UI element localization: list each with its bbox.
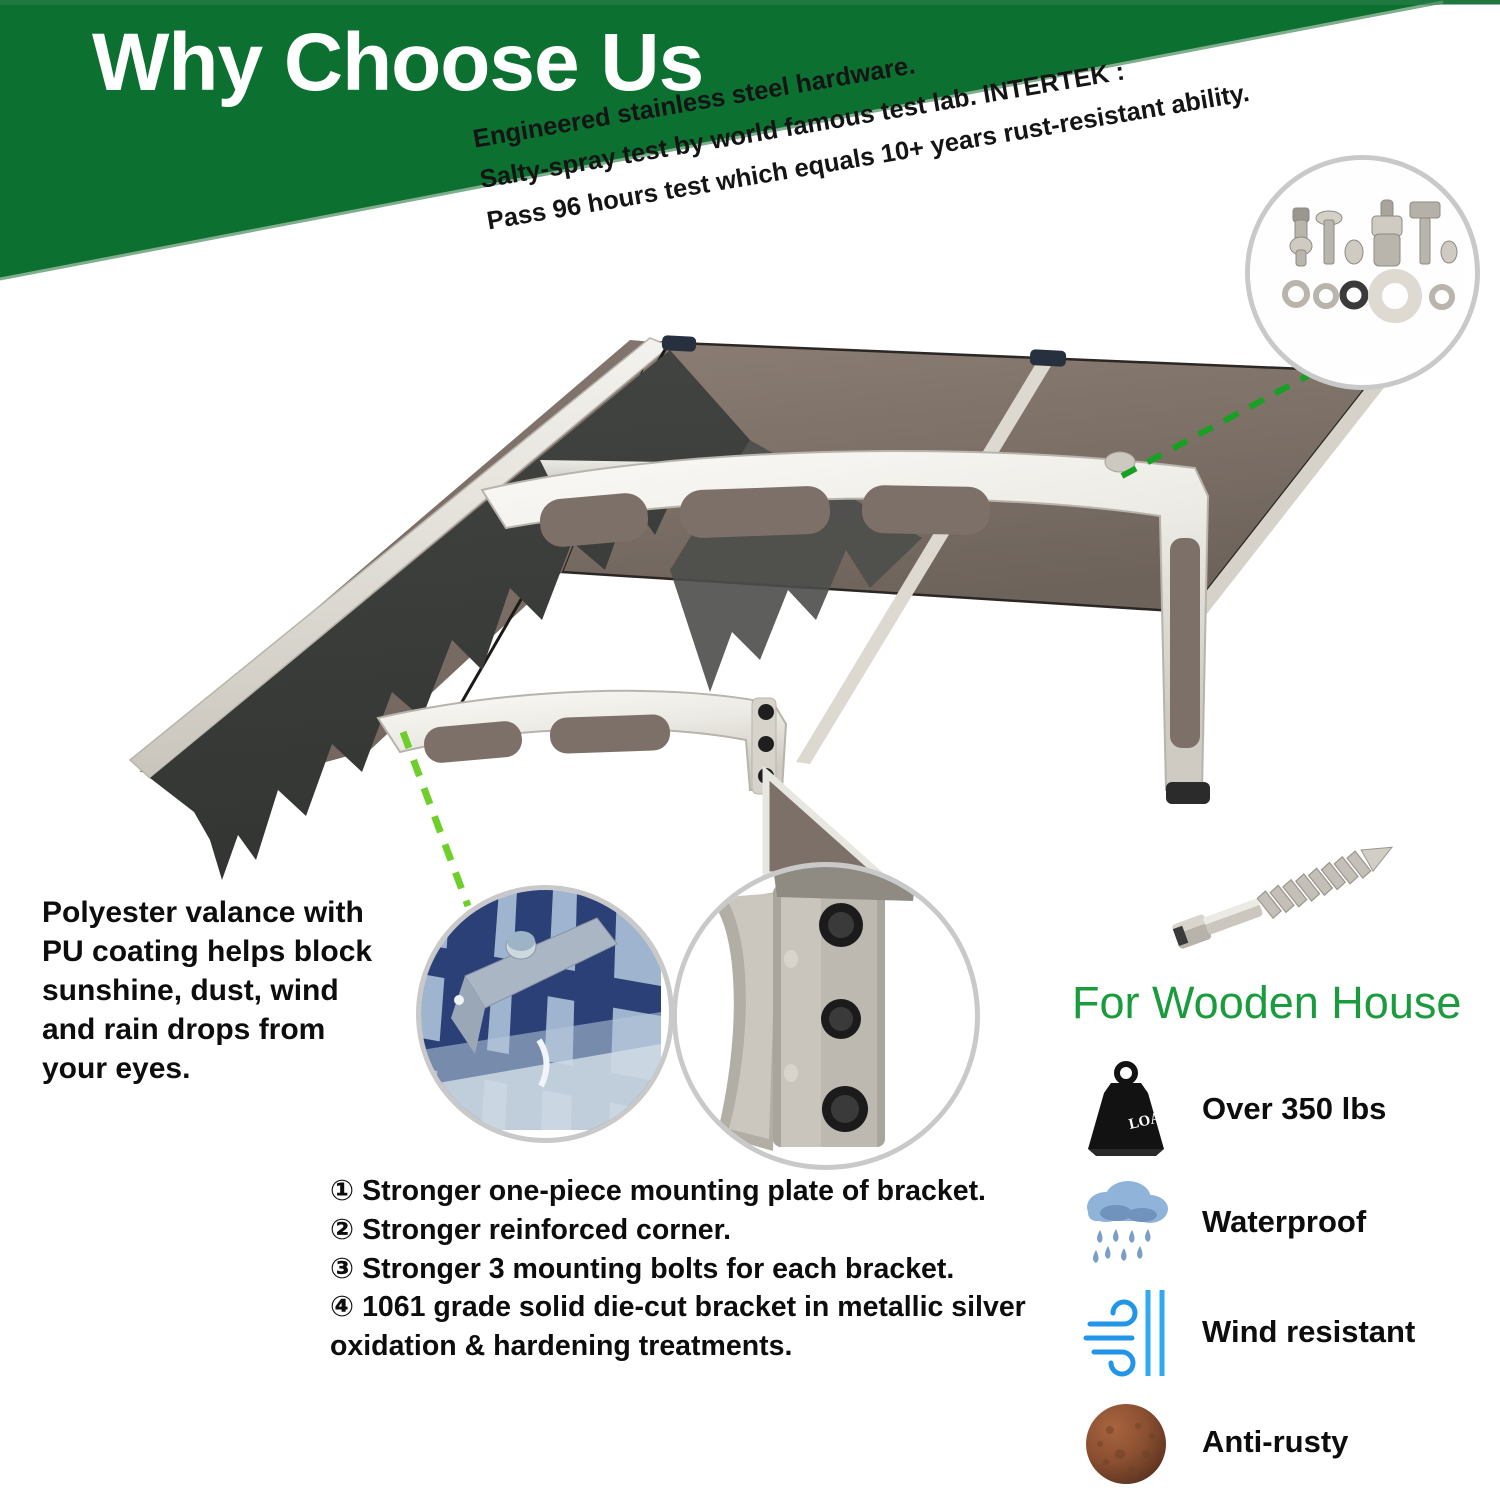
list-marker: ④	[330, 1291, 354, 1323]
wooden-house-title: For Wooden House	[1072, 977, 1461, 1029]
load-weight-icon: LOAD	[1072, 1055, 1180, 1163]
valance-mount-callout	[416, 885, 674, 1143]
feature-wind-resistant: Wind resistant	[1072, 1278, 1415, 1386]
feature-waterproof: Waterproof	[1072, 1168, 1366, 1276]
list-item: ③ Stronger 3 mounting bolts for each bra…	[330, 1250, 1070, 1289]
end-cap-left	[662, 335, 697, 352]
rust-sphere-icon	[1072, 1388, 1180, 1496]
lag-screw-photo	[1150, 840, 1425, 950]
list-marker: ③	[330, 1253, 354, 1285]
feature-label: Wind resistant	[1202, 1314, 1415, 1350]
feature-label: Anti-rusty	[1202, 1424, 1348, 1460]
valance-mount-photo	[421, 890, 661, 1130]
infographic-canvas: Why Choose Us Engineered stainless steel…	[0, 0, 1500, 1500]
bracket-bolts-callout	[672, 862, 980, 1170]
list-text: Stronger one-piece mounting plate of bra…	[362, 1175, 986, 1207]
feature-label: Waterproof	[1202, 1204, 1366, 1240]
list-text: Stronger 3 mounting bolts for each brack…	[362, 1253, 954, 1285]
page-title: Why Choose Us	[92, 20, 703, 106]
feature-over-350-lbs: LOAD Over 350 lbs	[1072, 1055, 1386, 1163]
end-cap-middle	[1030, 349, 1067, 367]
hardware-kit-callout	[1245, 155, 1480, 390]
list-item: ④ 1061 grade solid die-cut bracket in me…	[330, 1288, 1070, 1366]
wind-icon	[1072, 1278, 1180, 1386]
list-text: 1061 grade solid die-cut bracket in meta…	[330, 1291, 1026, 1362]
hardware-anchor-stud	[1105, 452, 1135, 472]
polyester-valance	[150, 350, 750, 880]
list-item: ② Stronger reinforced corner.	[330, 1211, 1070, 1250]
lag-screw-callout	[1150, 840, 1425, 950]
valance-description: Polyester valance with PU coating helps …	[42, 893, 382, 1088]
list-marker: ①	[330, 1175, 354, 1207]
list-item: ① Stronger one-piece mounting plate of b…	[330, 1172, 1070, 1211]
feature-anti-rusty: Anti-rusty	[1072, 1388, 1348, 1496]
list-marker: ②	[330, 1214, 354, 1246]
feature-label: Over 350 lbs	[1202, 1091, 1386, 1127]
stainless-hardware-kit-photo	[1250, 160, 1465, 375]
bracket-bolts-photo	[677, 867, 967, 1157]
bracket-feature-list: ① Stronger one-piece mounting plate of b…	[330, 1172, 1070, 1366]
rain-cloud-icon	[1072, 1168, 1180, 1276]
list-text: Stronger reinforced corner.	[362, 1214, 731, 1246]
